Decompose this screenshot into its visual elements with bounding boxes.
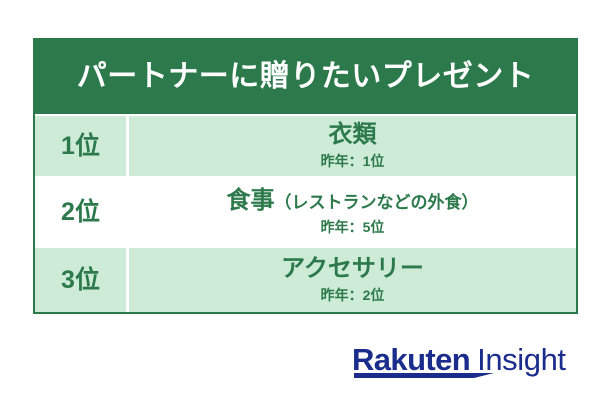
item-name-text: アクセサリー [281, 255, 424, 282]
logo-product-text: Insight [477, 344, 566, 375]
previous-rank-label: 昨年：5位 [321, 219, 385, 236]
logo-underline-swoosh [354, 372, 496, 379]
table-row: 3位 アクセサリー 昨年：2位 [35, 246, 576, 312]
item-name: アクセサリー [281, 255, 424, 283]
item-name-note: （レストランなどの外食） [275, 193, 479, 212]
rank-cell: 2位 [35, 178, 129, 246]
rank-label: 2位 [61, 200, 100, 225]
page-title: パートナーに贈りたいプレゼント [77, 62, 535, 92]
table-header: パートナーに贈りたいプレゼント [35, 40, 576, 114]
item-name-text: 食事 [227, 187, 275, 214]
item-name-text: 衣類 [329, 121, 377, 148]
rank-label: 1位 [61, 134, 100, 159]
table-row: 2位 食事（レストランなどの外食） 昨年：5位 [35, 176, 576, 246]
item-cell: 食事（レストランなどの外食） 昨年：5位 [129, 178, 576, 246]
rakuten-insight-logo: Rakuten Insight [352, 344, 566, 384]
rank-cell: 1位 [35, 116, 129, 176]
item-cell: アクセサリー 昨年：2位 [129, 248, 576, 312]
item-cell: 衣類 昨年：1位 [129, 116, 576, 176]
ranking-table: パートナーに贈りたいプレゼント 1位 衣類 昨年：1位 2位 食事（レストランな… [33, 38, 578, 314]
previous-rank-label: 昨年：2位 [321, 287, 385, 304]
rank-label: 3位 [61, 268, 100, 293]
infographic-poster: パートナーに贈りたいプレゼント 1位 衣類 昨年：1位 2位 食事（レストランな… [0, 0, 612, 417]
previous-rank-label: 昨年：1位 [321, 153, 385, 170]
logo-wordmark: Rakuten [352, 344, 470, 375]
rank-cell: 3位 [35, 248, 129, 312]
item-name: 食事（レストランなどの外食） [227, 187, 479, 215]
table-row: 1位 衣類 昨年：1位 [35, 114, 576, 176]
logo-brand-text: Rakuten [352, 344, 470, 375]
item-name: 衣類 [329, 121, 377, 149]
